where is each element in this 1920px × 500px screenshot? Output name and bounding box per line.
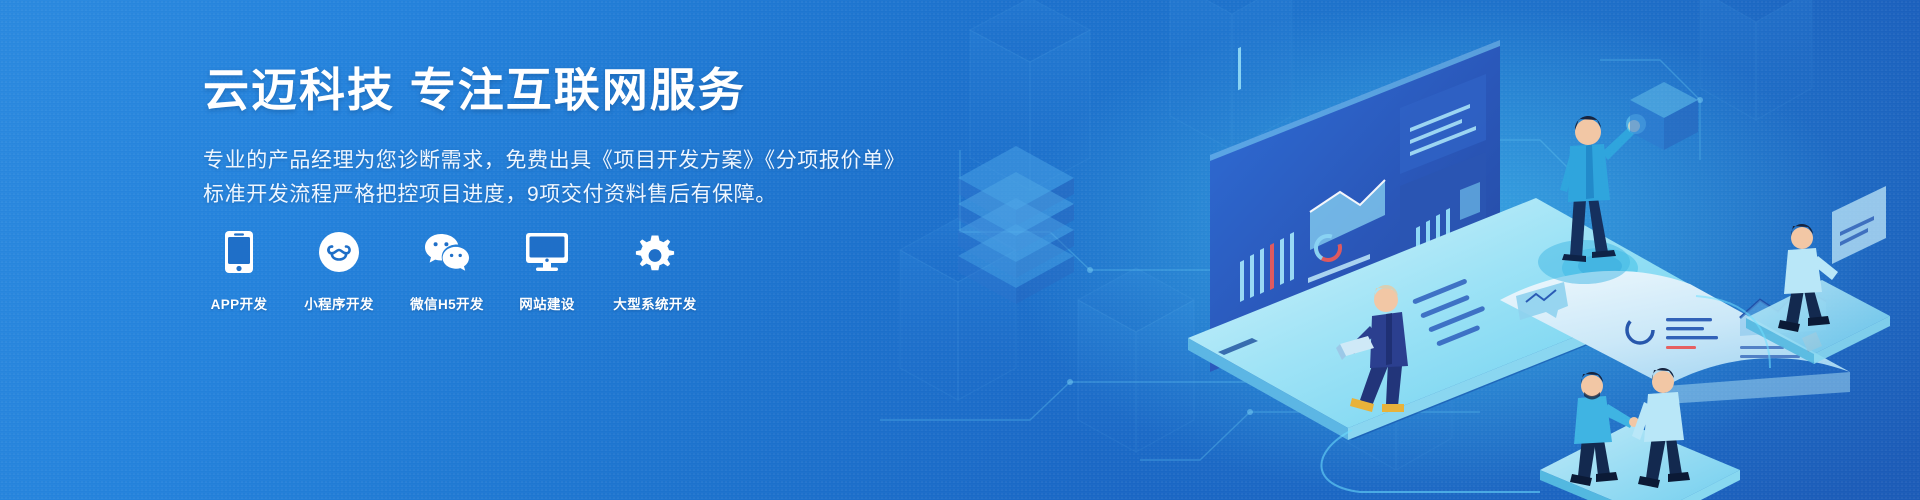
wechat-icon bbox=[424, 229, 470, 275]
service-list: APP开发 小程序开发 bbox=[203, 229, 707, 313]
server-stack bbox=[958, 146, 1074, 304]
monitor-icon bbox=[524, 229, 570, 275]
service-label: 大型系统开发 bbox=[613, 293, 696, 313]
subtitle-line-1: 专业的产品经理为您诊断需求，免费出具《项目开发方案》《分项报价单》 bbox=[203, 144, 903, 178]
subtitle-block: 专业的产品经理为您诊断需求，免费出具《项目开发方案》《分项报价单》 标准开发流程… bbox=[203, 144, 903, 212]
subtitle-line-2: 标准开发流程严格把控项目进度，9项交付资料售后有保障。 bbox=[203, 178, 903, 212]
service-label: 网站建设 bbox=[519, 293, 575, 313]
mobile-phone-icon bbox=[216, 229, 262, 275]
mini-program-icon bbox=[316, 229, 362, 275]
promo-banner: 云迈科技 专注互联网服务 专业的产品经理为您诊断需求，免费出具《项目开发方案》《… bbox=[0, 0, 1920, 500]
banner-copy: 云迈科技 专注互联网服务 专业的产品经理为您诊断需求，免费出具《项目开发方案》《… bbox=[203, 62, 903, 212]
service-label: 微信H5开发 bbox=[410, 293, 484, 313]
isometric-tech-illustration bbox=[840, 0, 1920, 500]
service-item-app[interactable]: APP开发 bbox=[203, 229, 275, 313]
service-item-large-system[interactable]: 大型系统开发 bbox=[603, 229, 707, 313]
service-item-wechat-h5[interactable]: 微信H5开发 bbox=[403, 229, 491, 313]
service-item-website[interactable]: 网站建设 bbox=[511, 229, 583, 313]
service-label: APP开发 bbox=[211, 293, 268, 313]
service-item-mini-program[interactable]: 小程序开发 bbox=[296, 229, 382, 313]
gear-icon bbox=[632, 229, 678, 275]
service-label: 小程序开发 bbox=[304, 293, 374, 313]
page-title: 云迈科技 专注互联网服务 bbox=[203, 62, 903, 120]
